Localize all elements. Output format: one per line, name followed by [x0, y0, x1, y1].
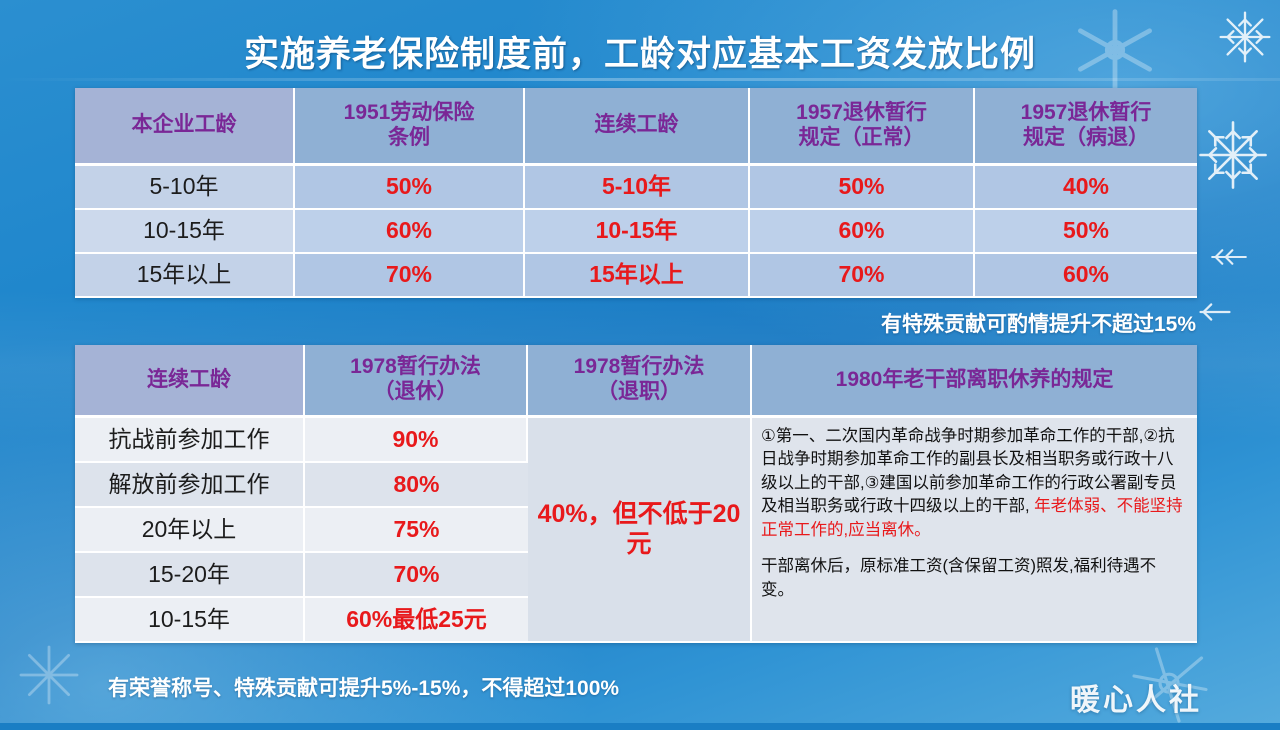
table-row: 10-15年 60% 10-15年 60% 50% — [75, 210, 1197, 254]
cell-tenure: 5-10年 — [75, 166, 295, 210]
column-header-continuous-tenure: 连续工龄 — [525, 88, 750, 166]
cell-tenure: 15年以上 — [75, 254, 295, 298]
snowflake-icon — [14, 640, 84, 710]
snowflake-icon — [1208, 236, 1250, 278]
snowflake-icon — [1196, 118, 1270, 192]
page-title: 实施养老保险制度前，工龄对应基本工资发放比例 — [0, 26, 1280, 77]
column-header-1978-resignation: 1978暂行办法 （退职） — [528, 345, 752, 418]
cell-1957-normal-value: 60% — [750, 210, 975, 254]
cell-continuous-tenure: 10-15年 — [525, 210, 750, 254]
paragraph-spacer — [761, 542, 1188, 555]
cell-tenure: 20年以上 — [75, 508, 305, 553]
cell-1957-normal-value: 50% — [750, 166, 975, 210]
cell-1951-value: 60% — [295, 210, 525, 254]
pre-insurance-ratio-table: 本企业工龄 1951劳动保险 条例 连续工龄 1957退休暂行 规定（正常） 1… — [75, 88, 1197, 298]
cell-cadre-rule-text: ①第一、二次国内革命战争时期参加革命工作的干部,②抗日战争时期参加革命工作的副县… — [752, 418, 1197, 643]
snowflake-icon — [1196, 293, 1234, 331]
column-header-1980-cadre-rule: 1980年老干部离职休养的规定 — [752, 345, 1197, 418]
table-header-row: 本企业工龄 1951劳动保险 条例 连续工龄 1957退休暂行 规定（正常） 1… — [75, 88, 1197, 166]
cadre-rule-part2: 干部离休后，原标准工资(含保留工资)照发,福利待遇不变。 — [761, 557, 1156, 598]
cell-continuous-tenure: 5-10年 — [525, 166, 750, 210]
cell-resignation-merged: 40%，但不低于20元 — [528, 418, 752, 643]
cell-1951-value: 50% — [295, 166, 525, 210]
cell-retirement-pct: 70% — [305, 553, 528, 598]
cell-retirement-pct: 90% — [305, 418, 528, 463]
cell-1957-illness-value: 50% — [975, 210, 1197, 254]
column-header-1951-labor-insurance: 1951劳动保险 条例 — [295, 88, 525, 166]
column-header-1957-illness: 1957退休暂行 规定（病退） — [975, 88, 1197, 166]
column-header-1978-retirement: 1978暂行办法 （退休） — [305, 345, 528, 418]
cell-1951-value: 70% — [295, 254, 525, 298]
table-row: 5-10年 50% 5-10年 50% 40% — [75, 166, 1197, 210]
cell-tenure: 15-20年 — [75, 553, 305, 598]
cell-1957-illness-value: 40% — [975, 166, 1197, 210]
table-header-row: 连续工龄 1978暂行办法 （退休） 1978暂行办法 （退职） 1980年老干… — [75, 345, 1197, 418]
table-row: 抗战前参加工作 90% 40%，但不低于20元 ①第一、二次国内革命战争时期参加… — [75, 418, 1197, 463]
table-row: 15年以上 70% 15年以上 70% 60% — [75, 254, 1197, 298]
cell-retirement-pct: 60%最低25元 — [305, 598, 528, 643]
cell-continuous-tenure: 15年以上 — [525, 254, 750, 298]
cell-tenure: 10-15年 — [75, 598, 305, 643]
cell-tenure: 抗战前参加工作 — [75, 418, 305, 463]
cell-1957-normal-value: 70% — [750, 254, 975, 298]
cell-tenure: 解放前参加工作 — [75, 463, 305, 508]
cell-retirement-pct: 80% — [305, 463, 528, 508]
cell-tenure: 10-15年 — [75, 210, 295, 254]
table2-footnote: 有荣誉称号、特殊贡献可提升5%-15%，不得超过100% — [108, 672, 619, 702]
watermark: 暖心人社 — [1070, 675, 1202, 719]
column-header-enterprise-tenure: 本企业工龄 — [75, 88, 295, 166]
cell-1957-illness-value: 60% — [975, 254, 1197, 298]
cell-retirement-pct: 75% — [305, 508, 528, 553]
column-header-1957-normal: 1957退休暂行 规定（正常） — [750, 88, 975, 166]
table1-footnote: 有特殊贡献可酌情提升不超过15% — [881, 308, 1196, 338]
column-header-continuous-tenure: 连续工龄 — [75, 345, 305, 418]
cadre-retirement-rules-table: 连续工龄 1978暂行办法 （退休） 1978暂行办法 （退职） 1980年老干… — [75, 345, 1197, 643]
